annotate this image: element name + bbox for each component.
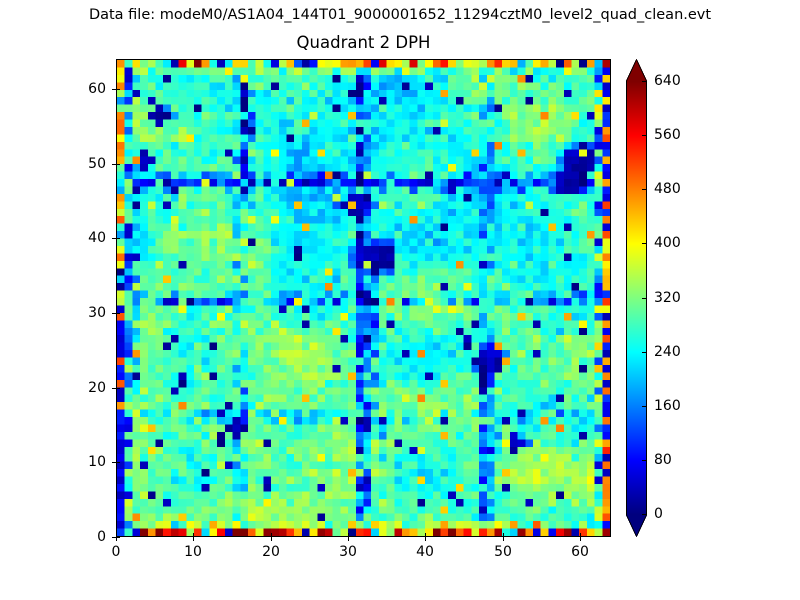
x-tick-mark-inner [271,533,272,537]
x-tick-mark [503,537,504,541]
x-tick-mark-inner [580,533,581,537]
y-tick-label: 10 [62,454,106,470]
x-tick-label: 40 [405,544,445,560]
data-file-title: Data file: modeM0/AS1A04_144T01_90000016… [0,6,800,24]
x-tick-mark [271,537,272,541]
x-tick-mark [425,537,426,541]
x-tick-label: 60 [560,544,600,560]
heatmap-image [117,60,610,536]
colorbar-tick-mark [642,189,647,190]
colorbar-tick-label: 320 [654,290,681,306]
y-tick-mark-inner [116,388,120,389]
y-tick-mark-inner [116,89,120,90]
colorbar-tick-mark [642,243,647,244]
colorbar-tick-mark [642,514,647,515]
colorbar-tick-mark [642,135,647,136]
y-tick-mark-inner [116,313,120,314]
heatmap-axes [116,59,611,537]
colorbar-tick-mark [642,406,647,407]
colorbar-tick-label: 240 [654,344,681,360]
x-tick-mark-inner [425,533,426,537]
y-tick-label: 60 [62,81,106,97]
colorbar-tick-label: 560 [654,127,681,143]
y-tick-label: 40 [62,230,106,246]
colorbar-tick-mark [642,460,647,461]
x-tick-label: 0 [96,544,136,560]
y-tick-mark-inner [116,462,120,463]
y-tick-label: 20 [62,380,106,396]
plot-title: Quadrant 2 DPH [116,33,611,53]
x-tick-label: 50 [483,544,523,560]
colorbar-tick-label: 160 [654,398,681,414]
colorbar-tick-label: 400 [654,235,681,251]
x-tick-mark [348,537,349,541]
colorbar-tick-mark [642,298,647,299]
x-tick-label: 30 [328,544,368,560]
colorbar-tick-label: 480 [654,181,681,197]
x-tick-label: 10 [173,544,213,560]
colorbar-tick-mark [642,352,647,353]
x-tick-mark-inner [348,533,349,537]
x-tick-label: 20 [251,544,291,560]
x-tick-mark-inner [193,533,194,537]
y-tick-mark-inner [116,164,120,165]
y-tick-mark-inner [116,537,120,538]
colorbar-tick-label: 640 [654,73,681,89]
x-tick-mark [193,537,194,541]
y-tick-label: 50 [62,156,106,172]
colorbar-tick-label: 80 [654,452,672,468]
colorbar-tick-mark [642,81,647,82]
x-tick-mark [580,537,581,541]
y-tick-label: 30 [62,305,106,321]
colorbar-tick-label: 0 [654,506,663,522]
figure-canvas: Data file: modeM0/AS1A04_144T01_90000016… [0,0,800,600]
x-tick-mark-inner [503,533,504,537]
y-tick-label: 0 [62,529,106,545]
y-tick-mark-inner [116,238,120,239]
